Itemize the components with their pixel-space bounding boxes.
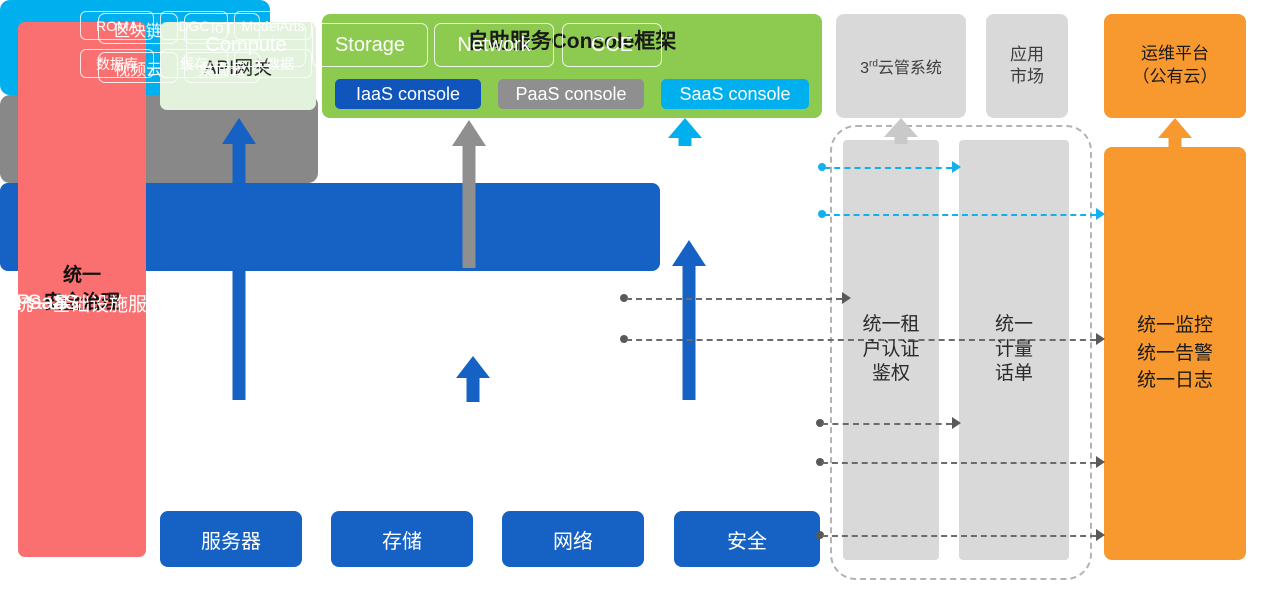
hardware-box-server[interactable]: 服务器 bbox=[160, 511, 302, 567]
dashed-iaas-to-ops bbox=[822, 462, 1096, 464]
unified-infrastructure-service-label: 统一基础设施服务 bbox=[14, 289, 166, 316]
arrowhead-paas-to-auth bbox=[842, 292, 851, 304]
paas-chip-roma[interactable]: ROMA bbox=[80, 11, 154, 40]
architecture-diagram: 统一 安全治理 API网关 自助服务Console框架 IaaS console… bbox=[0, 0, 1265, 605]
app-market-label: 应用 市场 bbox=[1010, 44, 1044, 88]
hardware-box-network[interactable]: 网络 bbox=[502, 511, 644, 567]
ops-platform-public-cloud-box[interactable]: 运维平台 （公有云） bbox=[1104, 14, 1246, 118]
arrow-iaas-to-saas bbox=[672, 240, 706, 400]
arrow-into-ops-platform bbox=[1158, 118, 1192, 148]
paas-chip-database[interactable]: 数据库 bbox=[80, 49, 154, 78]
arrow-paas-to-console bbox=[452, 120, 486, 268]
arrowhead-iaas-to-ops bbox=[1096, 456, 1105, 468]
arrow-iaas-to-api-gateway bbox=[222, 118, 256, 400]
dashed-paas-to-auth bbox=[626, 298, 842, 300]
paas-console-chip[interactable]: PaaS console bbox=[498, 79, 644, 109]
arrowhead-iaas-to-metering bbox=[952, 417, 961, 429]
dashed-saas-to-ops bbox=[824, 214, 1096, 216]
arrowhead-hardware-to-ops bbox=[1096, 529, 1105, 541]
arrow-saas-to-console bbox=[668, 118, 702, 146]
dashed-hardware-to-ops bbox=[822, 535, 1096, 537]
iaas-chip-storage[interactable]: Storage bbox=[312, 23, 428, 67]
ops-platform-public-cloud-label: 运维平台 （公有云） bbox=[1133, 43, 1218, 89]
arrowhead-saas-to-ops bbox=[1096, 208, 1105, 220]
third-party-cloud-management-label: 3rd云管系统 bbox=[860, 54, 942, 78]
app-market-box[interactable]: 应用 市场 bbox=[986, 14, 1068, 118]
dashed-iaas-to-metering bbox=[822, 423, 952, 425]
unified-metering-billing-label: 统一 计量 话单 bbox=[995, 313, 1033, 387]
iaas-chip-cce[interactable]: CCE bbox=[562, 23, 662, 67]
arrow-into-third-party-cloud bbox=[884, 118, 918, 144]
unified-tenant-auth-label: 统一租 户认证 鉴权 bbox=[862, 313, 919, 387]
iaas-chip-compute[interactable]: Compute bbox=[186, 23, 306, 67]
unified-metering-billing-column[interactable]: 统一 计量 话单 bbox=[959, 140, 1069, 560]
dashed-saas-to-metering bbox=[824, 167, 952, 169]
saas-console-chip[interactable]: SaaS console bbox=[661, 79, 809, 109]
unified-tenant-auth-column[interactable]: 统一租 户认证 鉴权 bbox=[843, 140, 939, 560]
unified-monitoring-panel[interactable]: 统一监控 统一告警 统一日志 bbox=[1104, 147, 1246, 560]
iaas-console-chip[interactable]: IaaS console bbox=[335, 79, 481, 109]
iaas-chip-network[interactable]: Network bbox=[434, 23, 554, 67]
arrowhead-saas-to-metering bbox=[952, 161, 961, 173]
third-party-cloud-management-box[interactable]: 3rd云管系统 bbox=[836, 14, 966, 118]
unified-monitoring-label: 统一监控 统一告警 统一日志 bbox=[1137, 312, 1213, 395]
hardware-box-security[interactable]: 安全 bbox=[674, 511, 820, 567]
arrowhead-paas-to-ops bbox=[1096, 333, 1105, 345]
hardware-box-storage[interactable]: 存储 bbox=[331, 511, 473, 567]
arrow-iaas-to-paas bbox=[456, 356, 490, 402]
